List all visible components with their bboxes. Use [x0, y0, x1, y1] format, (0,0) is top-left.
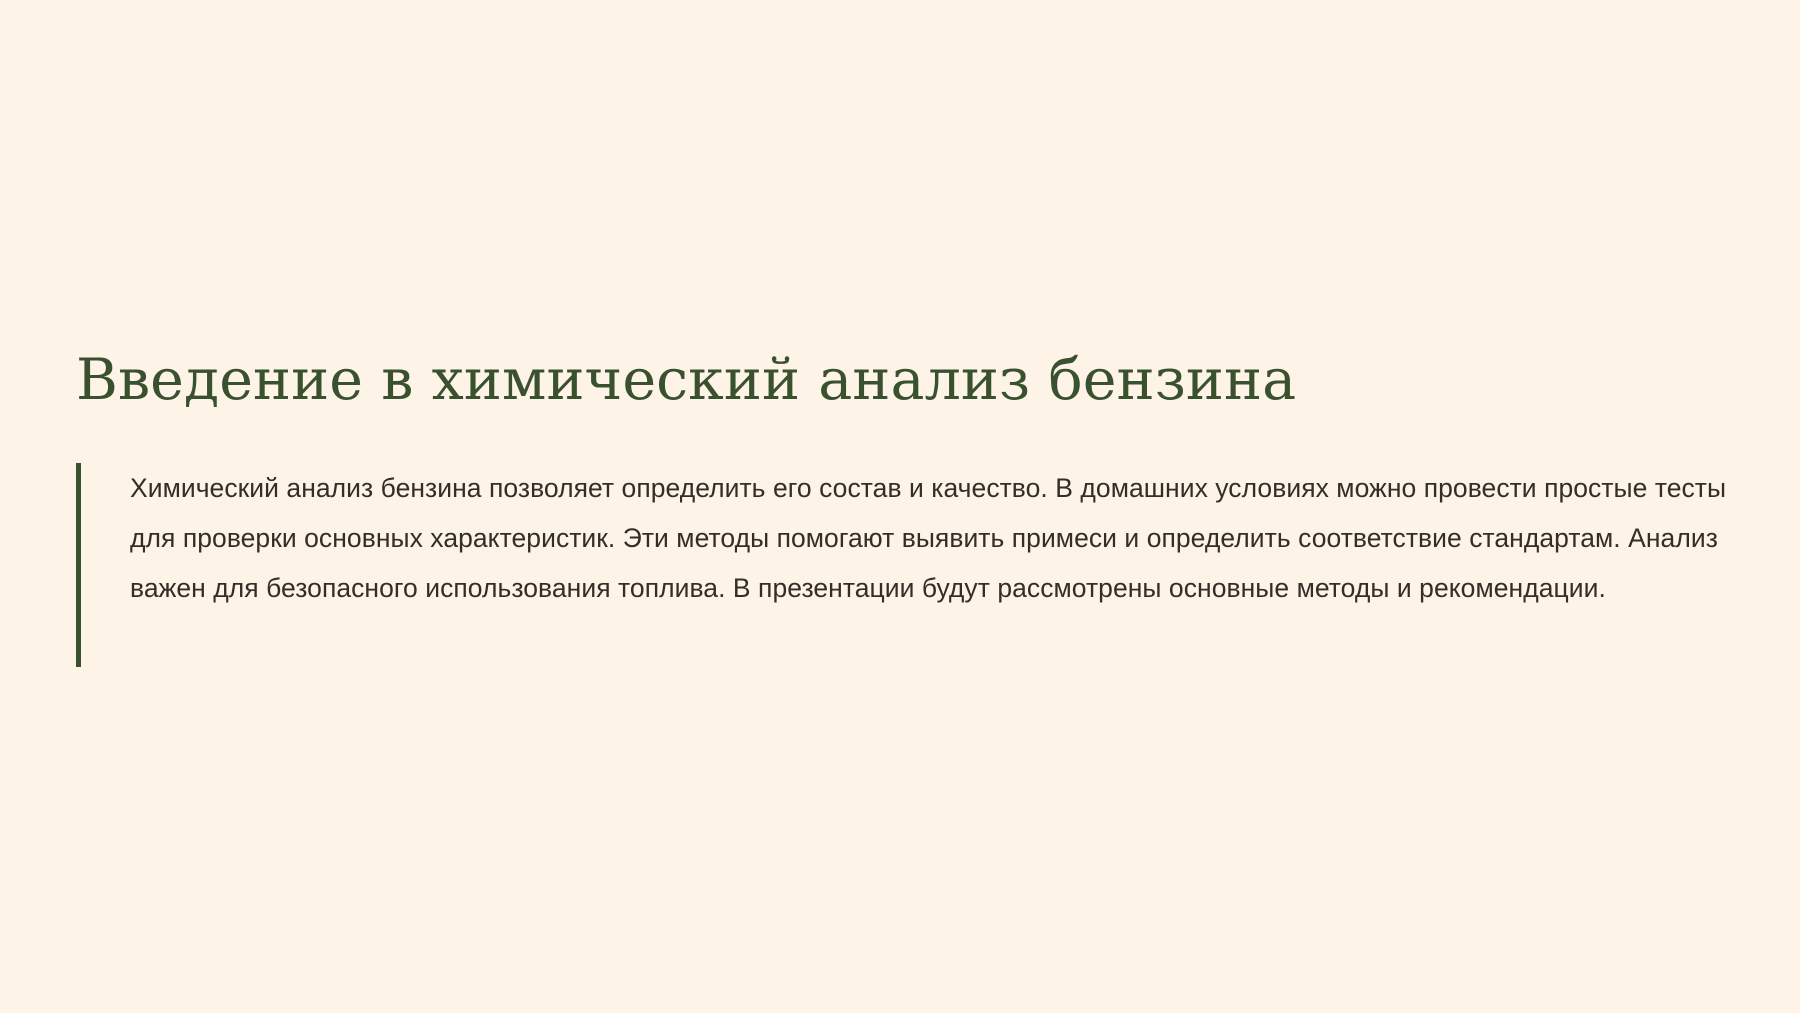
page-title: Введение в химический анализ бензина — [76, 343, 1716, 417]
body-quote-block: Химический анализ бензина позволяет опре… — [76, 463, 1736, 667]
slide-canvas: Введение в химический анализ бензина Хим… — [0, 0, 1800, 1013]
body-paragraph: Химический анализ бензина позволяет опре… — [81, 463, 1736, 667]
